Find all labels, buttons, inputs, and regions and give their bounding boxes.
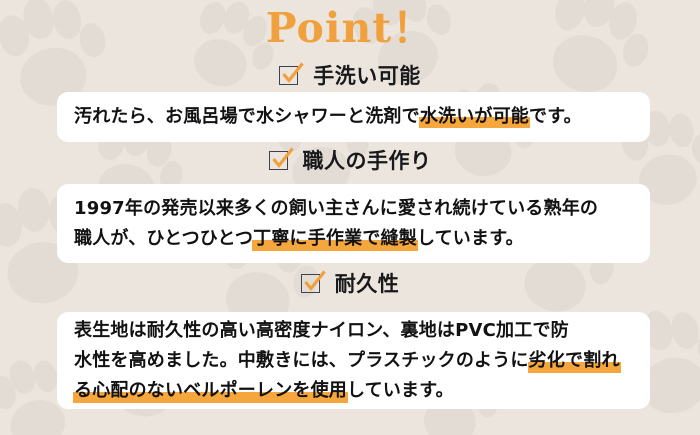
section-heading-1: 手洗い可能 xyxy=(0,61,700,91)
text-run: 表生地は耐久性の高い高密度ナイロン、裏地はPVC加工で防 xyxy=(74,320,569,341)
section-heading-label-3: 耐久性 xyxy=(335,274,400,295)
text-run: です。 xyxy=(529,106,582,127)
text-run: 水性を高めました。中敷きには、プラスチックのように xyxy=(74,350,529,371)
card-line: る心配のないベルポーレンを使用しています。 xyxy=(74,376,633,406)
section-heading-label-1: 手洗い可能 xyxy=(313,66,421,87)
checkbox-checked-icon xyxy=(269,151,290,172)
section-heading-label-2: 職人の手作り xyxy=(303,151,432,172)
section-heading-2: 職人の手作り xyxy=(0,146,700,176)
card-line: 職人が、ひとつひとつ丁寧に手作業で縫製しています。 xyxy=(74,224,633,254)
card-line: 表生地は耐久性の高い高密度ナイロン、裏地はPVC加工で防 xyxy=(74,316,633,346)
card-line: 汚れたら、お風呂場で水シャワーと洗剤で水洗いが可能です。 xyxy=(74,103,633,131)
card-line: 1997年の発売以来多くの飼い主さんに愛され続けている熟年の xyxy=(74,194,633,224)
section-heading-3: 耐久性 xyxy=(0,269,700,299)
text-run: 職人が、ひとつひとつ xyxy=(74,228,253,249)
card-line: 水性を高めました。中敷きには、プラスチックのように劣化で割れ xyxy=(74,346,633,376)
point-panel: Point！ 手洗い可能 汚れたら、お風呂場で水シャワーと洗剤で水洗いが可能です… xyxy=(0,0,700,435)
highlight-run: る心配のないベルポーレンを使用 xyxy=(74,376,347,406)
section-card-1: 汚れたら、お風呂場で水シャワーと洗剤で水洗いが可能です。 xyxy=(57,92,650,142)
text-run: しています。 xyxy=(347,380,454,401)
text-run: しています。 xyxy=(417,228,524,249)
text-run: 1997年の発売以来多くの飼い主さんに愛され続けている熟年の xyxy=(74,198,598,219)
text-run: 汚れたら、お風呂場で水シャワーと洗剤で xyxy=(74,106,420,127)
checkbox-checked-icon xyxy=(301,274,322,295)
highlight-run: 水洗いが可能 xyxy=(420,103,529,131)
checkbox-checked-icon xyxy=(279,66,300,87)
page-title: Point！ xyxy=(0,6,700,52)
highlight-run: 劣化で割れ xyxy=(529,346,620,376)
section-card-3: 表生地は耐久性の高い高密度ナイロン、裏地はPVC加工で防 水性を高めました。中敷… xyxy=(57,312,650,409)
highlight-run: 丁寧に手作業で縫製 xyxy=(253,224,417,254)
section-card-2: 1997年の発売以来多くの飼い主さんに愛され続けている熟年の 職人が、ひとつひと… xyxy=(57,184,650,263)
